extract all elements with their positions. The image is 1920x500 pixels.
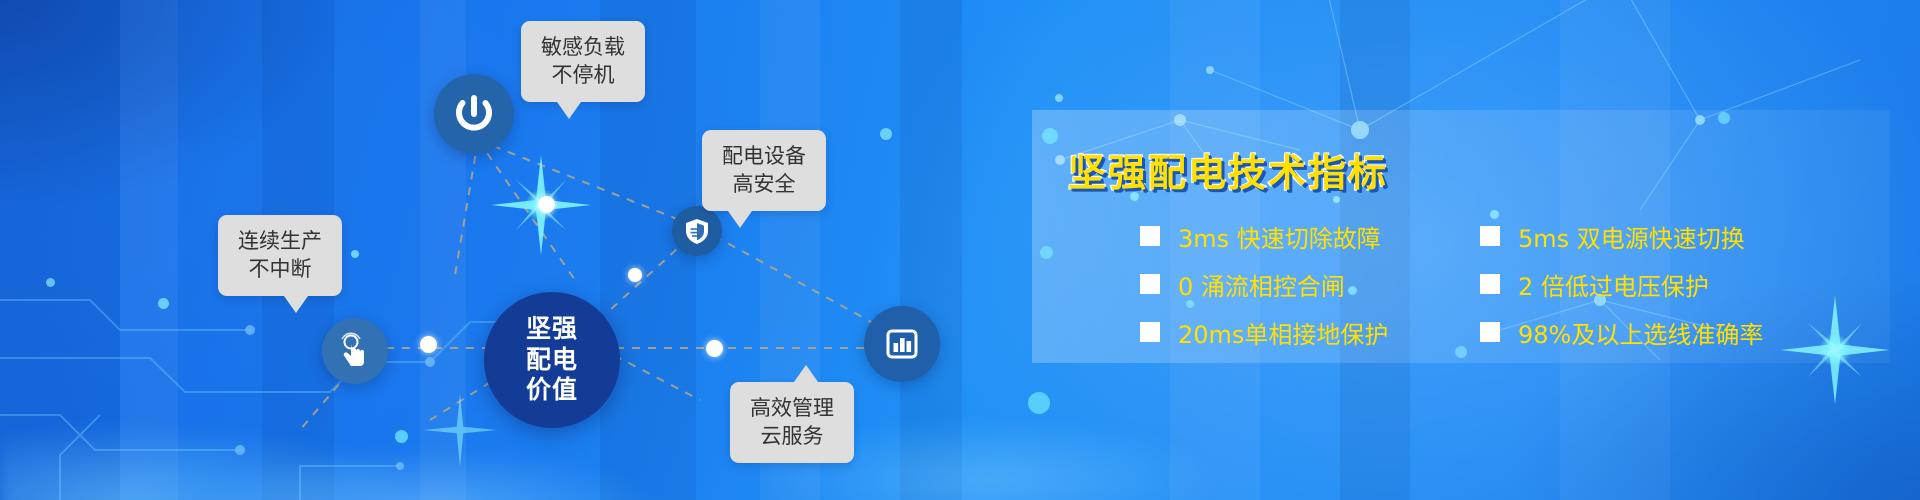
bullet-square-icon bbox=[1480, 322, 1500, 342]
spec-item[interactable]: 20ms单相接地保护 bbox=[1140, 315, 1480, 350]
connector-pip bbox=[538, 196, 555, 213]
spec-item[interactable]: 98%及以上选线准确率 bbox=[1480, 315, 1840, 350]
shield-icon bbox=[682, 216, 712, 246]
bullet-square-icon bbox=[1140, 226, 1160, 246]
node-shield[interactable] bbox=[672, 206, 722, 256]
spec-item-label: 0 涌流相控合闸 bbox=[1178, 267, 1345, 302]
connector-pip bbox=[628, 268, 642, 282]
callout-equipment-safety[interactable]: 配电设备 高安全 bbox=[702, 130, 826, 211]
center-node-line-3: 价值 bbox=[526, 375, 578, 406]
callout-line-2: 高安全 bbox=[722, 170, 806, 198]
spec-item[interactable]: 3ms 快速切除故障 bbox=[1140, 219, 1480, 254]
spec-item-label: 2 倍低过电压保护 bbox=[1518, 267, 1709, 302]
bullet-square-icon bbox=[1480, 226, 1500, 246]
spec-list: 3ms 快速切除故障 5ms 双电源快速切换 0 涌流相控合闸 2 倍低过电压保… bbox=[1140, 212, 1840, 356]
callout-line-1: 高效管理 bbox=[750, 394, 834, 422]
spec-panel-title: 坚强配电技术指标 bbox=[1068, 142, 1388, 197]
power-icon bbox=[452, 92, 496, 136]
spec-item[interactable]: 0 涌流相控合闸 bbox=[1140, 267, 1480, 302]
spec-item-label: 3ms 快速切除故障 bbox=[1178, 219, 1381, 254]
spec-item[interactable]: 5ms 双电源快速切换 bbox=[1480, 219, 1840, 254]
center-node-line-2: 配电 bbox=[526, 345, 578, 376]
bullet-square-icon bbox=[1140, 322, 1160, 342]
hand-click-icon bbox=[336, 332, 374, 370]
bullet-square-icon bbox=[1480, 274, 1500, 294]
banner-root: 坚强 配电 价值 敏感负载 不停机 配电设备 高安全 连续生产 不中断 高效管理… bbox=[0, 0, 1920, 500]
node-chart[interactable] bbox=[864, 306, 940, 382]
spec-item-label: 98%及以上选线准确率 bbox=[1518, 315, 1763, 350]
center-node[interactable]: 坚强 配电 价值 bbox=[484, 292, 620, 428]
connector-pip bbox=[420, 336, 437, 353]
node-hand-click[interactable] bbox=[322, 318, 388, 384]
spec-item-label: 20ms单相接地保护 bbox=[1178, 315, 1388, 350]
callout-line-1: 连续生产 bbox=[238, 227, 322, 255]
center-node-line-1: 坚强 bbox=[526, 314, 578, 345]
bar-chart-icon bbox=[881, 323, 923, 365]
spec-item[interactable]: 2 倍低过电压保护 bbox=[1480, 267, 1840, 302]
bullet-square-icon bbox=[1140, 274, 1160, 294]
callout-line-2: 不停机 bbox=[541, 61, 625, 89]
callout-sensitive-load[interactable]: 敏感负载 不停机 bbox=[521, 21, 645, 102]
callout-line-1: 敏感负载 bbox=[541, 33, 625, 61]
spec-item-label: 5ms 双电源快速切换 bbox=[1518, 219, 1745, 254]
callout-line-1: 配电设备 bbox=[722, 142, 806, 170]
callout-cloud-service[interactable]: 高效管理 云服务 bbox=[730, 382, 854, 463]
callout-line-2: 不中断 bbox=[238, 255, 322, 283]
node-power[interactable] bbox=[434, 74, 514, 154]
callout-continuous-production[interactable]: 连续生产 不中断 bbox=[218, 215, 342, 296]
callout-line-2: 云服务 bbox=[750, 422, 834, 450]
connector-pip bbox=[706, 340, 723, 357]
